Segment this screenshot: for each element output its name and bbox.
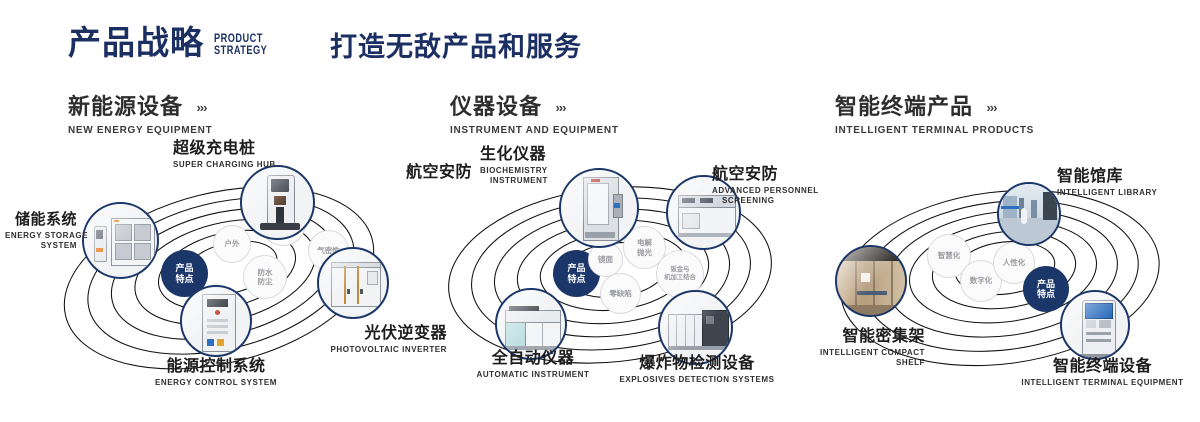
node-intelligent-library[interactable] [997, 182, 1061, 246]
node-charging-pile[interactable] [240, 165, 315, 240]
title-en: PRODUCT STRATEGY [214, 33, 267, 57]
cluster-new-energy: 产品 特点 户外 防腐 防锈 防水 防尘 气密性 [55, 150, 445, 395]
control-cabinet-icon [182, 287, 250, 355]
chevrons-icon: ››› [986, 100, 996, 115]
library-photo-icon [999, 184, 1059, 244]
node-label-charging-pile: 超级充电桩 SUPER CHARGING HUB [173, 140, 363, 170]
explosives-detector-icon [660, 292, 731, 363]
section-title-cn: 仪器设备 [450, 96, 542, 118]
node-self-service-kiosk[interactable] [1060, 290, 1130, 360]
title-en-line1: PRODUCT [214, 33, 267, 45]
core-line2: 特点 [1037, 289, 1055, 299]
node-explosives-detector[interactable] [658, 290, 733, 365]
node-label-energy-storage: 储能系统 ENERGY STORAGE SYSTEM [5, 212, 77, 251]
automatic-instrument-icon [497, 290, 565, 358]
node-label-compact-shelf: 智能密集架 INTELLIGENT COMPACT SHELF [765, 328, 925, 368]
node-label-self-service-kiosk: 智能终端设备 INTELLIGENT TERMINAL EQUIPMENT [1005, 358, 1200, 388]
compact-shelf-photo-icon [837, 247, 905, 315]
charging-pile-icon [242, 167, 313, 238]
section-title-cn: 智能终端产品 [835, 96, 973, 118]
section-title-cn: 新能源设备 [68, 96, 183, 118]
section-title-en: NEW ENERGY EQUIPMENT [68, 125, 212, 136]
node-pv-inverter[interactable] [317, 247, 389, 319]
node-control-cabinet[interactable] [180, 285, 252, 357]
page-title: 产品战略 PRODUCT STRATEGY [68, 26, 281, 59]
node-label-intelligent-library: 智能馆库 INTELLIGENT LIBRARY [1057, 168, 1200, 198]
self-service-kiosk-icon [1062, 292, 1128, 358]
core-line1: 产品 [567, 263, 585, 273]
pv-inverter-icon [319, 249, 387, 317]
section-heading-instrument: 仪器设备 ››› INSTRUMENT AND EQUIPMENT [450, 96, 619, 136]
core-line2: 特点 [567, 274, 585, 284]
title-cn: 产品战略 [68, 26, 204, 59]
chevrons-icon: ››› [196, 100, 206, 115]
node-label-biochemistry: 生化仪器 BIOCHEMISTRY INSTRUMENT [480, 146, 630, 186]
chevrons-icon: ››› [555, 100, 565, 115]
cluster-instrument: 产品 特点 镜面 电解 抛光 钣金与 机加工结合 零缺陷 [420, 150, 820, 395]
node-label-pv-inverter: 光伏逆变器 PHOTOVOLTAIC INVERTER [235, 325, 447, 355]
node-label-control-cabinet: 能源控制系统 ENERGY CONTROL SYSTEM [85, 358, 347, 388]
section-heading-new-energy: 新能源设备 ››› NEW ENERGY EQUIPMENT [68, 96, 212, 136]
core-line2: 特点 [175, 274, 193, 284]
section-heading-intelligent-terminal: 智能终端产品 ››› INTELLIGENT TERMINAL PRODUCTS [835, 96, 1034, 136]
core-line1: 产品 [1037, 279, 1055, 289]
title-en-line2: STRATEGY [214, 45, 267, 57]
feature-bubble: 零缺陷 [600, 273, 641, 314]
node-compact-shelf[interactable] [835, 245, 907, 317]
section-title-en: INSTRUMENT AND EQUIPMENT [450, 125, 619, 136]
node-label-aviation-security-left: 航空安防 [406, 164, 496, 182]
page-subtitle: 打造无敌产品和服务 [330, 34, 582, 61]
section-title-en: INTELLIGENT TERMINAL PRODUCTS [835, 125, 1034, 136]
cluster-intelligent-terminal: 智慧化 数字化 人性化 产品 特点 [815, 150, 1200, 395]
node-energy-storage[interactable] [82, 202, 159, 279]
core-line1: 产品 [175, 263, 193, 273]
product-strategy-infographic: 产品战略 PRODUCT STRATEGY 打造无敌产品和服务 新能源设备 ››… [0, 0, 1200, 422]
energy-storage-cabinet-icon [84, 204, 157, 277]
